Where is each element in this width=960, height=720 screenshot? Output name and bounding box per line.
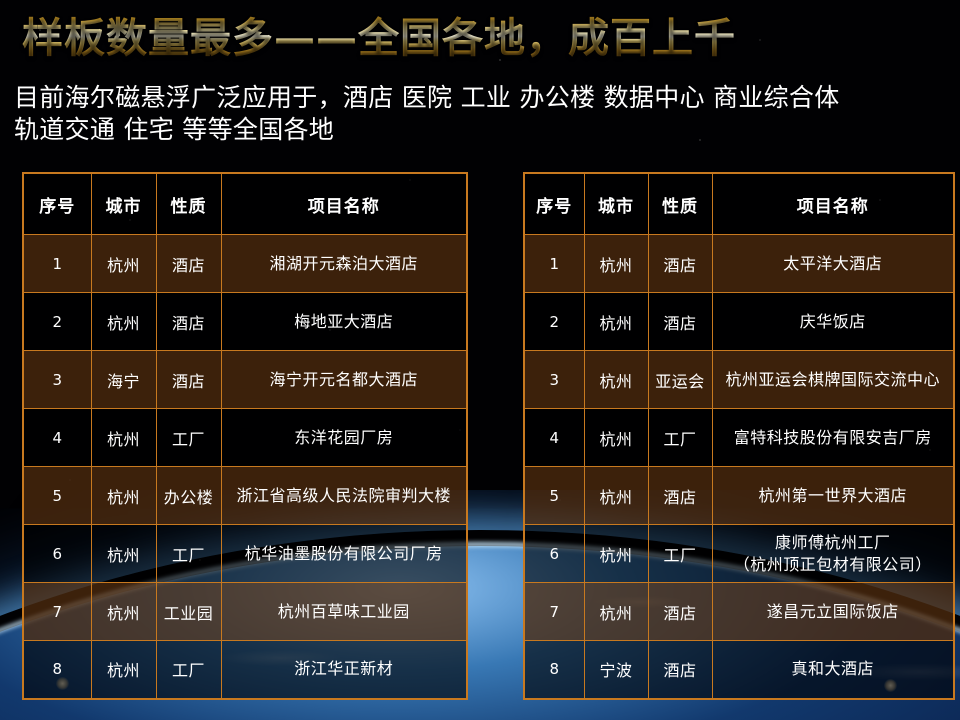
cell-type: 酒店 <box>648 235 712 293</box>
column-header-type: 性质 <box>648 173 712 235</box>
cell-project-name: 富特科技股份有限安吉厂房 <box>712 409 954 467</box>
subtitle-line-1: 目前海尔磁悬浮广泛应用于，酒店 医院 工业 办公楼 数据中心 商业综合体 <box>14 82 944 114</box>
cell-project-name: 康师傅杭州工厂 （杭州顶正包材有限公司） <box>712 525 954 583</box>
cell-city: 杭州 <box>584 467 648 525</box>
cell-city: 杭州 <box>584 293 648 351</box>
cell-no: 7 <box>23 583 91 641</box>
cell-project-name: 杭州亚运会棋牌国际交流中心 <box>712 351 954 409</box>
cell-type: 工厂 <box>648 409 712 467</box>
cell-no: 3 <box>23 351 91 409</box>
table-row: 5杭州办公楼浙江省高级人民法院审判大楼 <box>23 467 467 525</box>
table-row: 3杭州亚运会杭州亚运会棋牌国际交流中心 <box>524 351 954 409</box>
cell-city: 杭州 <box>584 583 648 641</box>
column-header-name: 项目名称 <box>221 173 467 235</box>
cell-city: 杭州 <box>91 525 156 583</box>
cell-no: 1 <box>23 235 91 293</box>
table-row: 7杭州酒店遂昌元立国际饭店 <box>524 583 954 641</box>
cell-no: 4 <box>23 409 91 467</box>
cell-type: 工厂 <box>156 409 221 467</box>
cell-city: 海宁 <box>91 351 156 409</box>
cell-project-name: 海宁开元名都大酒店 <box>221 351 467 409</box>
column-header-no: 序号 <box>524 173 584 235</box>
cell-city: 宁波 <box>584 641 648 699</box>
cell-project-name: 遂昌元立国际饭店 <box>712 583 954 641</box>
cell-project-name: 湘湖开元森泊大酒店 <box>221 235 467 293</box>
cell-type: 酒店 <box>648 293 712 351</box>
column-header-city: 城市 <box>584 173 648 235</box>
cell-project-name: 杭州第一世界大酒店 <box>712 467 954 525</box>
cell-type: 酒店 <box>156 235 221 293</box>
table-body-left: 1杭州酒店湘湖开元森泊大酒店2杭州酒店梅地亚大酒店3海宁酒店海宁开元名都大酒店4… <box>23 235 467 699</box>
cell-project-name: 杭华油墨股份有限公司厂房 <box>221 525 467 583</box>
table-row: 5杭州酒店杭州第一世界大酒店 <box>524 467 954 525</box>
cell-city: 杭州 <box>91 467 156 525</box>
cell-type: 酒店 <box>156 351 221 409</box>
table-row: 4杭州工厂东洋花园厂房 <box>23 409 467 467</box>
cell-type: 酒店 <box>648 641 712 699</box>
cell-project-name: 庆华饭店 <box>712 293 954 351</box>
table-row: 1杭州酒店太平洋大酒店 <box>524 235 954 293</box>
cell-type: 工厂 <box>156 641 221 699</box>
table-header-row: 序号 城市 性质 项目名称 <box>524 173 954 235</box>
cell-project-name: 东洋花园厂房 <box>221 409 467 467</box>
cell-no: 8 <box>23 641 91 699</box>
table-row: 3海宁酒店海宁开元名都大酒店 <box>23 351 467 409</box>
cell-type: 办公楼 <box>156 467 221 525</box>
cell-no: 1 <box>524 235 584 293</box>
cell-no: 6 <box>524 525 584 583</box>
cell-city: 杭州 <box>91 641 156 699</box>
cell-project-name: 杭州百草味工业园 <box>221 583 467 641</box>
column-header-city: 城市 <box>91 173 156 235</box>
cell-no: 5 <box>23 467 91 525</box>
column-header-name: 项目名称 <box>712 173 954 235</box>
project-table-right: 序号 城市 性质 项目名称 1杭州酒店太平洋大酒店2杭州酒店庆华饭店3杭州亚运会… <box>523 172 955 700</box>
cell-no: 3 <box>524 351 584 409</box>
table-row: 6杭州工厂康师傅杭州工厂 （杭州顶正包材有限公司） <box>524 525 954 583</box>
cell-no: 5 <box>524 467 584 525</box>
cell-type: 酒店 <box>156 293 221 351</box>
cell-city: 杭州 <box>584 235 648 293</box>
cell-no: 2 <box>23 293 91 351</box>
cell-type: 工业园 <box>156 583 221 641</box>
table-row: 7杭州工业园杭州百草味工业园 <box>23 583 467 641</box>
cell-type: 亚运会 <box>648 351 712 409</box>
cell-city: 杭州 <box>91 409 156 467</box>
cell-project-name: 浙江华正新材 <box>221 641 467 699</box>
table-row: 1杭州酒店湘湖开元森泊大酒店 <box>23 235 467 293</box>
table-row: 2杭州酒店梅地亚大酒店 <box>23 293 467 351</box>
cell-project-name: 太平洋大酒店 <box>712 235 954 293</box>
cell-no: 4 <box>524 409 584 467</box>
cell-city: 杭州 <box>91 583 156 641</box>
table-row: 8杭州工厂浙江华正新材 <box>23 641 467 699</box>
table-row: 4杭州工厂富特科技股份有限安吉厂房 <box>524 409 954 467</box>
cell-project-name: 浙江省高级人民法院审判大楼 <box>221 467 467 525</box>
table-body-right: 1杭州酒店太平洋大酒店2杭州酒店庆华饭店3杭州亚运会杭州亚运会棋牌国际交流中心4… <box>524 235 954 699</box>
cell-no: 7 <box>524 583 584 641</box>
table-row: 8宁波酒店真和大酒店 <box>524 641 954 699</box>
table-row: 6杭州工厂杭华油墨股份有限公司厂房 <box>23 525 467 583</box>
cell-type: 酒店 <box>648 467 712 525</box>
cell-type: 酒店 <box>648 583 712 641</box>
cell-type: 工厂 <box>648 525 712 583</box>
cell-city: 杭州 <box>91 293 156 351</box>
column-header-no: 序号 <box>23 173 91 235</box>
cell-city: 杭州 <box>91 235 156 293</box>
table-header-row: 序号 城市 性质 项目名称 <box>23 173 467 235</box>
cell-no: 6 <box>23 525 91 583</box>
cell-city: 杭州 <box>584 525 648 583</box>
cell-no: 2 <box>524 293 584 351</box>
cell-no: 8 <box>524 641 584 699</box>
subtitle-line-2: 轨道交通 住宅 等等全国各地 <box>14 114 944 146</box>
table-row: 2杭州酒店庆华饭店 <box>524 293 954 351</box>
page-title: 样板数量最多——全国各地，成百上千 <box>22 12 736 64</box>
column-header-type: 性质 <box>156 173 221 235</box>
cell-project-name: 真和大酒店 <box>712 641 954 699</box>
cell-city: 杭州 <box>584 351 648 409</box>
cell-type: 工厂 <box>156 525 221 583</box>
project-table-left: 序号 城市 性质 项目名称 1杭州酒店湘湖开元森泊大酒店2杭州酒店梅地亚大酒店3… <box>22 172 468 700</box>
cell-project-name: 梅地亚大酒店 <box>221 293 467 351</box>
subtitle-text: 目前海尔磁悬浮广泛应用于，酒店 医院 工业 办公楼 数据中心 商业综合体 轨道交… <box>14 82 944 146</box>
slide-canvas: 样板数量最多——全国各地，成百上千 目前海尔磁悬浮广泛应用于，酒店 医院 工业 … <box>0 0 960 720</box>
cell-city: 杭州 <box>584 409 648 467</box>
